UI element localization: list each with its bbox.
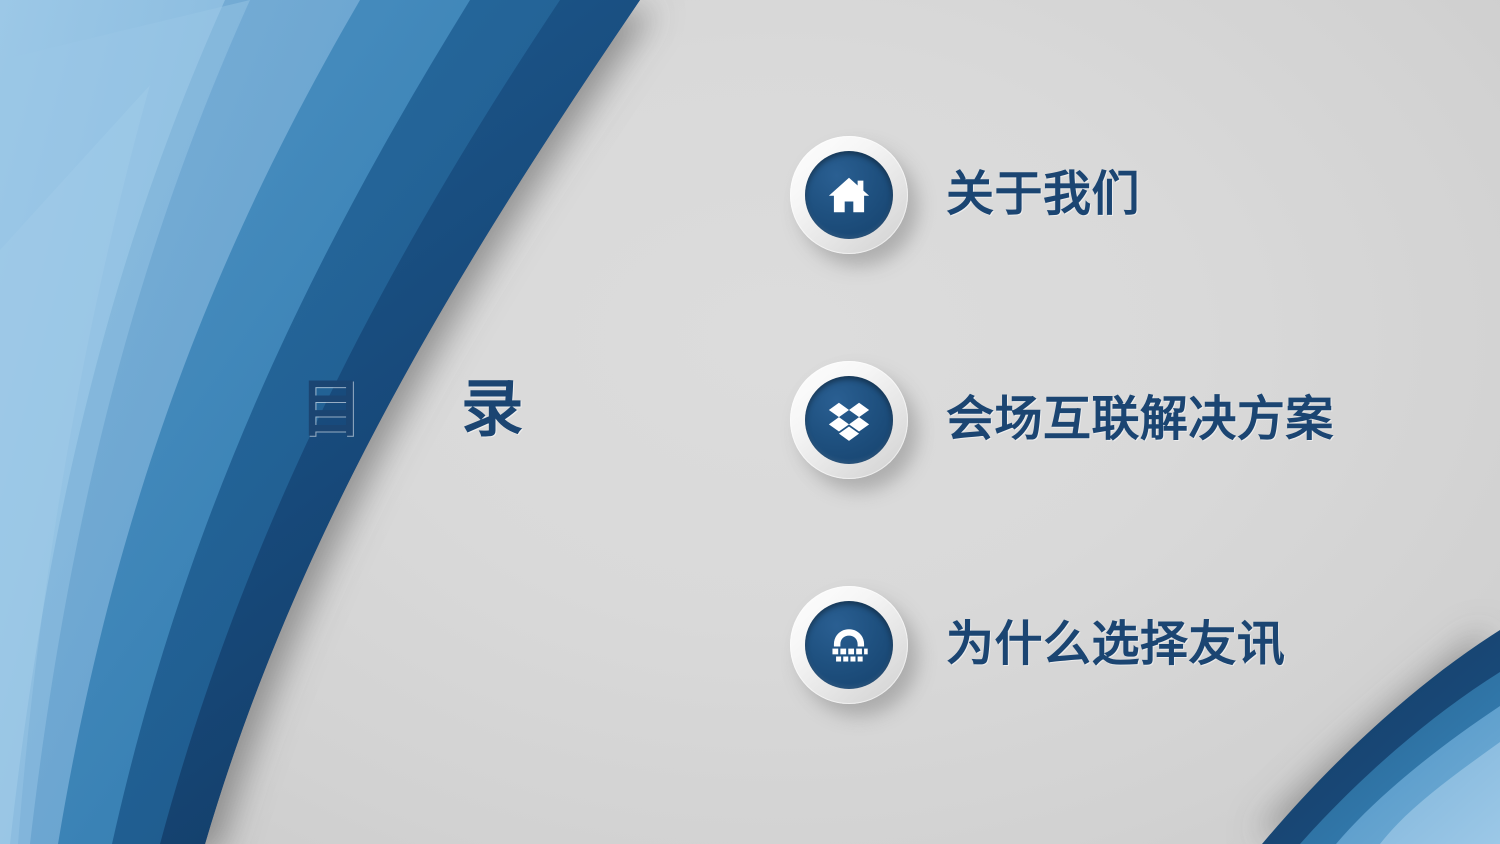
badge-inner-circle [805,601,893,689]
agenda-icon-badge[interactable] [790,361,908,479]
agenda-item-venue-interconnect-solution[interactable]: 会场互联解决方案 [790,355,1490,485]
agenda-item-label: 关于我们 [946,171,1140,219]
agenda-item-about-us[interactable]: 关于我们 [790,130,1490,260]
agenda-list: 关于我们 会场互联解决方案 [790,130,1490,805]
presentation-slide: 目 录 关于我们 [0,0,1500,844]
dropbox-icon [826,397,872,443]
page-title: 目 录 [300,378,560,443]
agenda-item-label: 为什么选择友讯 [946,621,1285,669]
agenda-icon-badge[interactable] [790,136,908,254]
home-icon [826,172,872,218]
network-bridge-icon [826,622,872,668]
agenda-item-label: 会场互联解决方案 [946,396,1334,444]
badge-inner-circle [805,376,893,464]
agenda-icon-badge[interactable] [790,586,908,704]
agenda-item-why-choose-youxun[interactable]: 为什么选择友讯 [790,580,1490,710]
badge-inner-circle [805,151,893,239]
